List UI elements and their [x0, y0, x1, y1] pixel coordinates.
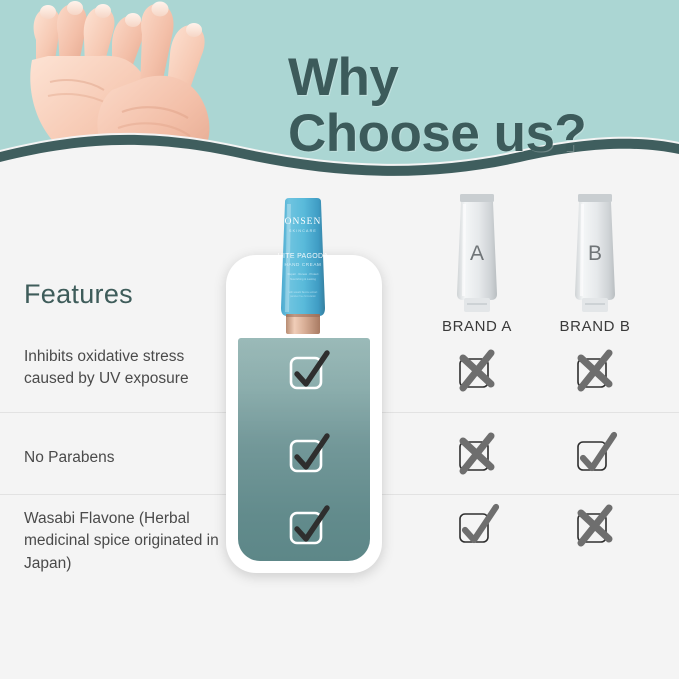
feature-label-3: Wasabi Flavone (Herbal medicinal spice o…: [24, 508, 229, 575]
brand-a-tube: A: [453, 192, 501, 320]
product-tube-onsen: ONSEN SKINCARE HITE PAGODA HAND CREAM Re…: [277, 196, 329, 338]
svg-text:with wasabi flavone extract: with wasabi flavone extract: [289, 291, 318, 294]
svg-text:SKINCARE: SKINCARE: [289, 229, 317, 233]
cross-mark-icon: [449, 344, 505, 400]
check-mark-icon: [567, 427, 623, 483]
check-mark-icon: [281, 427, 337, 483]
svg-text:HITE PAGODA: HITE PAGODA: [278, 253, 329, 260]
check-mark-icon: [449, 499, 505, 555]
check-mark-icon: [281, 499, 337, 555]
brand-b-label: BRAND B: [525, 318, 665, 335]
page-title: Why Choose us?: [288, 50, 668, 163]
cross-mark-icon: [449, 427, 505, 483]
brand-a-tube-letter: A: [470, 242, 484, 265]
svg-text:paraben free formulation: paraben free formulation: [290, 295, 317, 298]
svg-text:HAND CREAM: HAND CREAM: [285, 262, 322, 267]
cross-mark-icon: [567, 499, 623, 555]
title-line-1: Why: [288, 48, 398, 107]
features-heading: Features: [24, 279, 133, 310]
feature-label-1: Inhibits oxidative stress caused by UV e…: [24, 346, 229, 391]
check-mark-icon: [281, 344, 337, 400]
infographic-root: Why Choose us? Features Inhibits oxidati…: [0, 0, 679, 679]
title-line-2: Choose us?: [288, 106, 668, 163]
cross-mark-icon: [567, 344, 623, 400]
header-banner: Why Choose us?: [0, 0, 679, 176]
brand-b-tube: B: [571, 192, 619, 320]
svg-text:Repair · Renew · Protect: Repair · Renew · Protect: [288, 272, 319, 276]
svg-text:Nourishing & Lasting: Nourishing & Lasting: [290, 277, 316, 281]
brand-b-tube-letter: B: [588, 242, 602, 265]
feature-label-2: No Parabens: [24, 447, 229, 469]
